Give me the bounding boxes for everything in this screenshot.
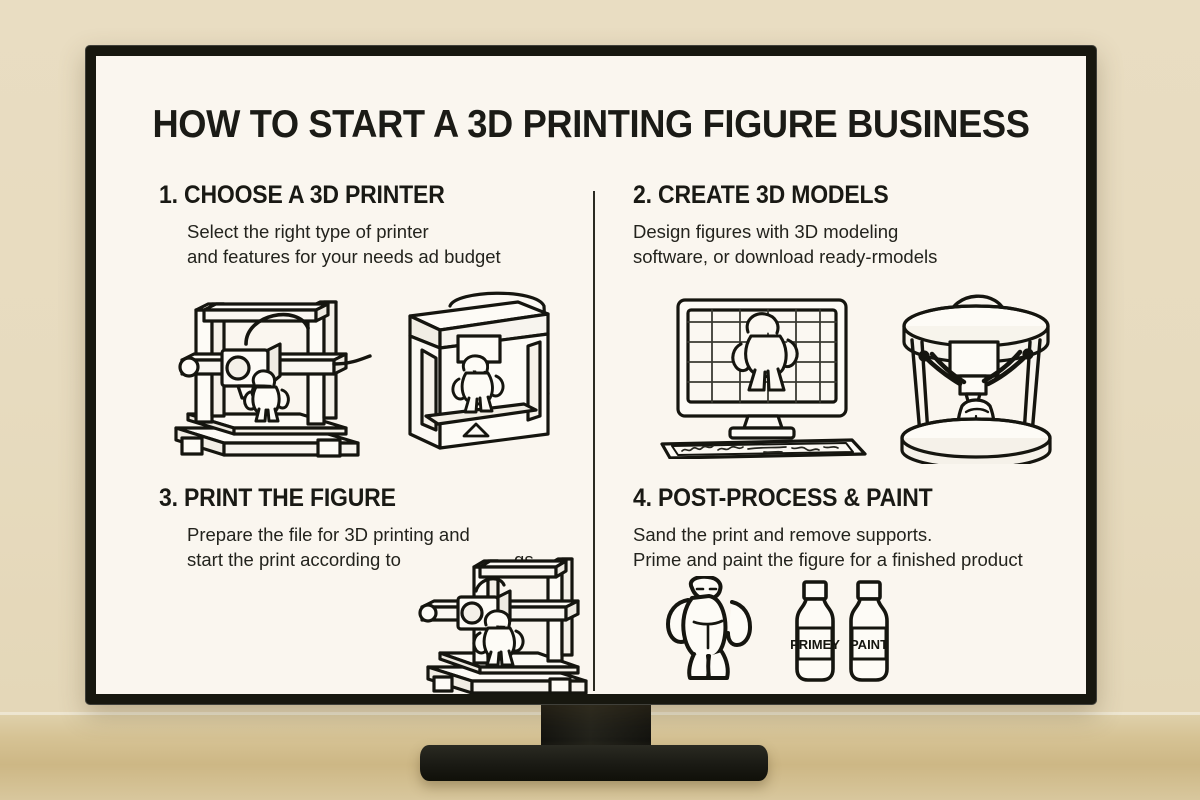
enclosed-printer-icon <box>396 284 574 464</box>
step-3-line-2-head: start the print according to <box>187 549 401 570</box>
step-4-line-2: Prime and paint the figure for a finishe… <box>633 547 1023 572</box>
infographic-poster: HOW TO START A 3D PRINTING FIGURE BUSINE… <box>96 56 1086 694</box>
paint-bottles-icon: PRIMEY PAINT <box>786 578 904 686</box>
bottle-primer-label: PRIMEY <box>790 637 840 652</box>
step-3-line-1: Prepare the file for 3D printing and <box>187 522 534 547</box>
step-4-line-1: Sand the print and remove supports. <box>633 522 1023 547</box>
monitor-stand-neck <box>541 703 651 751</box>
step-4-block: 4. POST-PROCESS & PAINT Sand the print a… <box>633 484 1023 572</box>
step-2-line-1: Design figures with 3D modeling <box>633 219 937 244</box>
step-4-body: Sand the print and remove supports. Prim… <box>633 522 1023 572</box>
monitor-screen: HOW TO START A 3D PRINTING FIGURE BUSINE… <box>96 56 1086 694</box>
step-2-body: Design figures with 3D modeling software… <box>633 219 937 269</box>
bedslinger-printer-icon <box>414 551 604 694</box>
step-1-body: Select the right type of printer and fea… <box>187 219 501 269</box>
muscular-figurine-icon <box>652 576 764 686</box>
delta-printer-icon <box>888 284 1068 464</box>
step-2-block: 2. CREATE 3D MODELS Design figures with … <box>633 181 937 269</box>
step-1-line-1: Select the right type of printer <box>187 219 501 244</box>
step-1-line-2: and features for your needs ad budget <box>187 244 501 269</box>
step-4-heading: 4. POST-PROCESS & PAINT <box>633 484 992 513</box>
monitor-stand-base <box>420 745 768 781</box>
bottle-paint-label: PAINT <box>850 637 888 652</box>
step-2-line-2: software, or download ready-rmodels <box>633 244 937 269</box>
screenshot-scene: HOW TO START A 3D PRINTING FIGURE BUSINE… <box>0 0 1200 800</box>
page-title: HOW TO START A 3D PRINTING FIGURE BUSINE… <box>131 103 1052 147</box>
fdm-printer-icon <box>158 288 373 463</box>
desktop-computer-icon <box>656 294 871 459</box>
step-3-heading: 3. PRINT THE FIGURE <box>159 484 504 513</box>
monitor-bezel: HOW TO START A 3D PRINTING FIGURE BUSINE… <box>85 45 1097 705</box>
step-1-block: 1. CHOOSE A 3D PRINTER Select the right … <box>159 181 501 269</box>
step-1-heading: 1. CHOOSE A 3D PRINTER <box>159 181 473 210</box>
step-2-heading: 2. CREATE 3D MODELS <box>633 181 913 210</box>
